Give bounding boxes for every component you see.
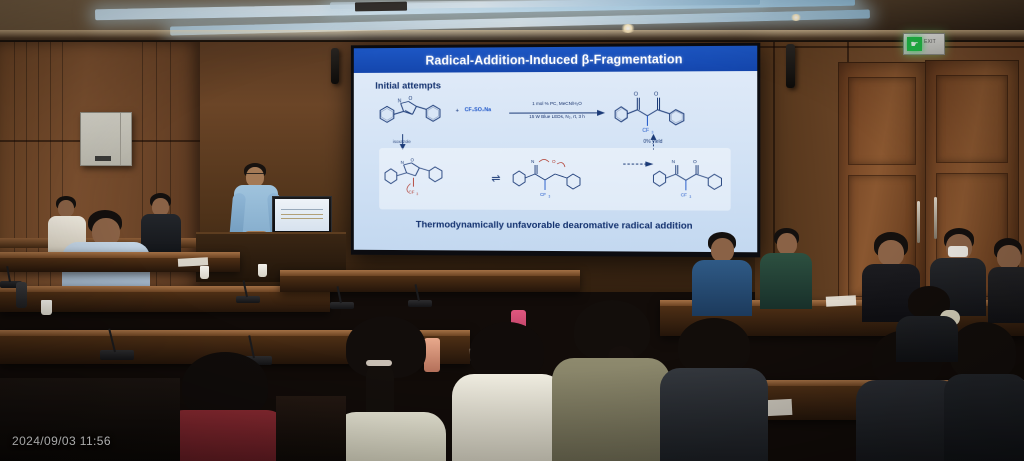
reaction-substrate-isoxazole: N O xyxy=(377,94,495,144)
exit-sign: ☛ EXIT xyxy=(903,33,945,55)
slide-content: Initial attempts xyxy=(354,71,757,252)
mechanism-imine-product: N O CF 3 xyxy=(651,152,757,207)
reagent-label: CF₃SO₂Na xyxy=(465,107,491,113)
conference-room-photo: ☛ EXIT Radical-Addition-Induced β-Fragme… xyxy=(0,0,1024,461)
projection-screen: Radical-Addition-Induced β-Fragmentation… xyxy=(351,43,760,258)
svg-text:N: N xyxy=(672,159,675,164)
paper-cup xyxy=(258,264,267,277)
exit-sign-label: EXIT xyxy=(924,39,936,45)
wall-speaker xyxy=(786,44,795,88)
slide-footer-text: Thermodynamically unfavorable dearomativ… xyxy=(354,219,757,232)
svg-text:3: 3 xyxy=(689,195,691,199)
reaction-product-diketone: O O CF 3 xyxy=(613,85,733,144)
attendee xyxy=(760,228,812,306)
downlight xyxy=(790,14,802,21)
equilibrium-arrow: ⇌ xyxy=(491,172,500,185)
svg-text:N: N xyxy=(398,98,402,104)
attendee-foreground xyxy=(330,316,448,461)
face-mask xyxy=(948,246,968,257)
paper-cup xyxy=(41,300,52,315)
hair-tie xyxy=(366,360,392,366)
attendee xyxy=(692,232,752,312)
mechanism-radical-intermediate: N O CF 3 xyxy=(511,152,621,206)
reaction-conditions-bottom: 15 W Blue LEDs, N₂, rt, 3 h xyxy=(509,113,605,120)
attendee xyxy=(896,286,958,356)
glasses-icon xyxy=(246,173,264,177)
thermos-bottle xyxy=(16,282,27,308)
plus-sign: + xyxy=(456,108,459,114)
timestamp-overlay: 2024/09/03 11:56 xyxy=(12,434,111,448)
mechanism-adduct-isoxazole: N O CF 3 xyxy=(381,154,487,204)
svg-text:N: N xyxy=(531,159,534,164)
ceiling xyxy=(0,0,1024,44)
svg-text:3: 3 xyxy=(549,194,551,198)
attendee xyxy=(988,238,1024,318)
attendee-foreground xyxy=(660,318,768,461)
desk-row xyxy=(280,270,580,292)
svg-text:N: N xyxy=(401,160,404,165)
svg-text:CF: CF xyxy=(642,128,649,134)
svg-text:CF: CF xyxy=(681,192,687,197)
ceiling-vent xyxy=(355,2,407,12)
paper-sheet xyxy=(826,295,856,307)
svg-text:O: O xyxy=(634,92,638,98)
cove-light xyxy=(0,30,1024,38)
wall-control-panel[interactable] xyxy=(80,112,132,166)
exit-running-man-icon: ☛ xyxy=(907,37,922,51)
wall-speaker xyxy=(331,48,339,84)
svg-text:CF: CF xyxy=(540,192,546,197)
chair-back xyxy=(276,396,346,461)
slide-title: Radical-Addition-Induced β-Fragmentation xyxy=(425,52,682,67)
mechanism-dashed-arrow xyxy=(623,160,653,168)
attendee-foreground xyxy=(552,300,670,461)
chair-back xyxy=(0,378,180,461)
svg-text:3: 3 xyxy=(416,192,418,196)
svg-text:O: O xyxy=(410,157,414,162)
svg-text:O: O xyxy=(654,92,658,98)
svg-text:O: O xyxy=(409,96,413,102)
reaction-conditions-top: 1 mol % PC, MeCN/H₂O xyxy=(509,100,605,107)
slide-surface: Radical-Addition-Induced β-Fragmentation… xyxy=(354,46,757,253)
paper-sheet xyxy=(178,257,208,267)
svg-text:O: O xyxy=(552,159,556,164)
svg-text:O: O xyxy=(693,159,697,165)
slide-title-banner: Radical-Addition-Induced β-Fragmentation xyxy=(354,46,757,73)
paper-cup xyxy=(200,266,209,279)
attendee-foreground xyxy=(452,322,564,461)
slide-subtitle: Initial attempts xyxy=(375,80,441,91)
svg-text:CF: CF xyxy=(409,190,415,195)
